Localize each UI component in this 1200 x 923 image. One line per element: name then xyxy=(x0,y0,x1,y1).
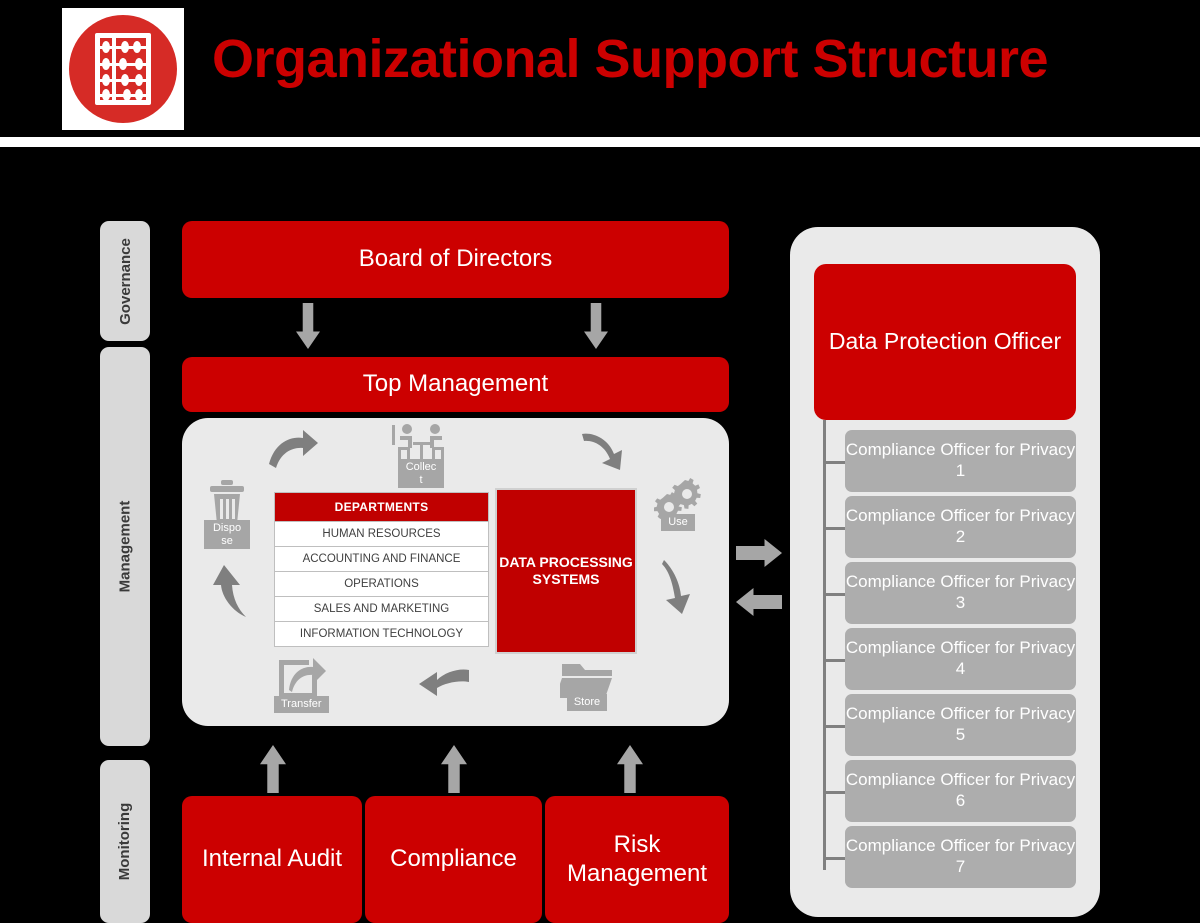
trash-bin-icon xyxy=(204,478,250,526)
lifecycle-dispose: Dispose xyxy=(204,478,250,549)
table-row: HUMAN RESOURCES xyxy=(274,522,489,547)
tree-branch-line xyxy=(823,593,845,596)
page-header: Organizational Support Structure xyxy=(0,0,1200,137)
table-row: INFORMATION TECHNOLOGY xyxy=(274,622,489,647)
arrow-right-icon xyxy=(736,539,782,567)
compliance-officer-box-1[interactable]: Compliance Officer for Privacy 1 xyxy=(845,430,1076,492)
band-governance: Governance xyxy=(100,221,150,341)
table-row: OPERATIONS xyxy=(274,572,489,597)
band-governance-label: Governance xyxy=(117,238,134,325)
internal-audit-box[interactable]: Internal Audit xyxy=(182,796,362,923)
data-processing-systems-box[interactable]: DATA PROCESSING SYSTEMS xyxy=(495,488,637,654)
curved-arrow-down-icon xyxy=(660,558,702,616)
arrow-down-icon xyxy=(584,303,608,349)
officer-row: Compliance Officer for Privacy 5 xyxy=(823,694,1076,760)
lifecycle-transfer: Transfer xyxy=(274,656,329,713)
arrow-up-icon xyxy=(441,745,467,793)
band-monitoring-label: Monitoring xyxy=(117,803,134,880)
band-management-label: Management xyxy=(117,501,134,593)
lifecycle-store: Store xyxy=(560,658,614,711)
table-row: ACCOUNTING AND FINANCE xyxy=(274,547,489,572)
officer-row: Compliance Officer for Privacy 7 xyxy=(823,826,1076,892)
lifecycle-collect-label: Collect xyxy=(398,459,444,488)
tree-branch-line xyxy=(823,461,845,464)
header-divider xyxy=(0,137,1200,147)
departments-table-header: DEPARTMENTS xyxy=(274,492,489,522)
management-panel: Dispose Collect xyxy=(182,418,729,726)
officer-row: Compliance Officer for Privacy 4 xyxy=(823,628,1076,694)
compliance-officer-box-5[interactable]: Compliance Officer for Privacy 5 xyxy=(845,694,1076,756)
arrow-up-icon xyxy=(617,745,643,793)
data-protection-officer-box[interactable]: Data Protection Officer xyxy=(814,264,1076,420)
risk-management-box[interactable]: Risk Management xyxy=(545,796,729,923)
curved-arrow-down-right-icon xyxy=(580,430,630,472)
abacus-icon xyxy=(69,15,177,123)
curved-arrow-up-right-icon xyxy=(267,430,319,470)
diagram-canvas: Organizational Support Structure Governa… xyxy=(0,0,1200,923)
officer-row: Compliance Officer for Privacy 3 xyxy=(823,562,1076,628)
logo-tile xyxy=(62,8,184,130)
board-of-directors-box[interactable]: Board of Directors xyxy=(182,221,729,298)
band-monitoring: Monitoring xyxy=(100,760,150,923)
tree-branch-line xyxy=(823,659,845,662)
tree-branch-line xyxy=(823,791,845,794)
officer-row: Compliance Officer for Privacy 2 xyxy=(823,496,1076,562)
table-row: SALES AND MARKETING xyxy=(274,597,489,622)
band-management: Management xyxy=(100,347,150,746)
dpo-panel: Data Protection Officer Compliance Offic… xyxy=(790,227,1100,917)
lifecycle-collect: Collect xyxy=(390,423,452,488)
arrow-left-icon xyxy=(736,588,782,616)
lifecycle-use: Use xyxy=(654,478,702,531)
departments-table: DEPARTMENTS HUMAN RESOURCES ACCOUNTING A… xyxy=(274,492,489,647)
tree-branch-line xyxy=(823,725,845,728)
tree-branch-line xyxy=(823,857,845,860)
top-management-box[interactable]: Top Management xyxy=(182,357,729,412)
compliance-officer-box-2[interactable]: Compliance Officer for Privacy 2 xyxy=(845,496,1076,558)
compliance-officer-box-6[interactable]: Compliance Officer for Privacy 6 xyxy=(845,760,1076,822)
lifecycle-dispose-label: Dispose xyxy=(204,520,250,549)
compliance-officer-box-4[interactable]: Compliance Officer for Privacy 4 xyxy=(845,628,1076,690)
page-title: Organizational Support Structure xyxy=(212,28,1048,90)
lifecycle-store-label: Store xyxy=(567,694,607,711)
compliance-officer-box-3[interactable]: Compliance Officer for Privacy 3 xyxy=(845,562,1076,624)
curved-arrow-left-icon xyxy=(417,666,471,702)
officer-row: Compliance Officer for Privacy 1 xyxy=(823,430,1076,496)
compliance-box[interactable]: Compliance xyxy=(365,796,542,923)
arrow-down-icon xyxy=(296,303,320,349)
officer-row: Compliance Officer for Privacy 6 xyxy=(823,760,1076,826)
lifecycle-transfer-label: Transfer xyxy=(274,696,329,713)
arrow-up-icon xyxy=(260,745,286,793)
curved-arrow-up-icon xyxy=(206,563,250,619)
tree-branch-line xyxy=(823,527,845,530)
lifecycle-use-label: Use xyxy=(661,514,695,531)
compliance-officer-box-7[interactable]: Compliance Officer for Privacy 7 xyxy=(845,826,1076,888)
